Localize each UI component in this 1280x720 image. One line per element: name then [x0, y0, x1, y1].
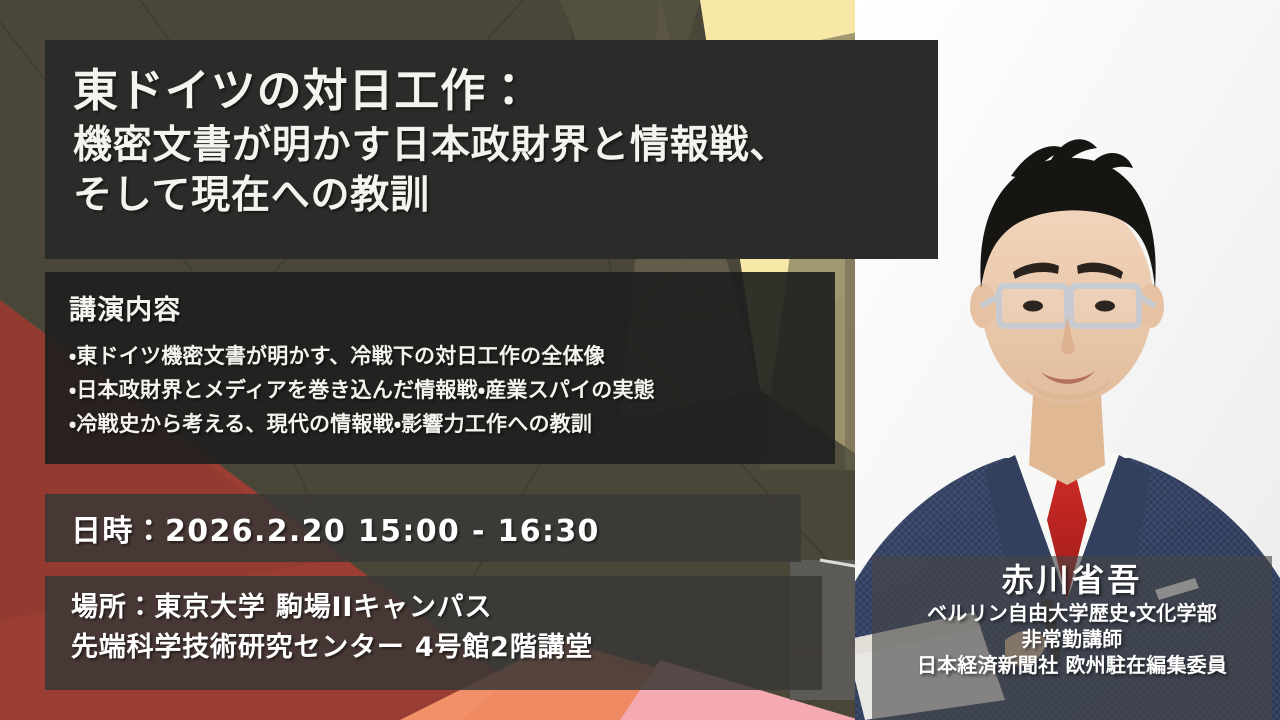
content-heading: 講演内容: [69, 288, 835, 327]
content-bullet-3: ・冷戦史から考える、現代の情報戦・影響力工作への教訓: [69, 407, 835, 441]
venue-line-1: 場所：東京大学 駒場IIキャンパス: [71, 588, 822, 628]
date-text: 日時：2026.2.20 15:00 - 16:30: [71, 506, 600, 550]
title-panel: 東ドイツの対日工作： 機密文書が明かす日本政財界と情報戦、 そして現在への教訓: [45, 40, 938, 259]
content-panel: 講演内容 ・東ドイツ機密文書が明かす、冷戦下の対日工作の全体像 ・日本政財界とメ…: [45, 272, 835, 464]
content-bullet-1: ・東ドイツ機密文書が明かす、冷戦下の対日工作の全体像: [69, 339, 835, 373]
content-bullet-2: ・日本政財界とメディアを巻き込んだ情報戦・産業スパイの実態: [69, 373, 835, 407]
title-line-1: 東ドイツの対日工作：: [73, 62, 938, 121]
title-line-2: 機密文書が明かす日本政財界と情報戦、: [73, 121, 938, 172]
speaker-affiliation-2: 非常勤講師: [1022, 626, 1123, 652]
venue-line-2: 先端科学技術研究センター 4号館2階講堂: [71, 628, 822, 668]
speaker-caption-panel: 赤川省吾 ベルリン自由大学歴史・文化学部 非常勤講師 日本経済新聞社 欧州駐在編…: [872, 556, 1272, 720]
date-panel: 日時：2026.2.20 15:00 - 16:30: [45, 494, 801, 562]
speaker-affiliation-1: ベルリン自由大学歴史・文化学部: [927, 600, 1217, 626]
poster-canvas: 東ドイツの対日工作： 機密文書が明かす日本政財界と情報戦、 そして現在への教訓 …: [0, 0, 1280, 720]
speaker-name: 赤川省吾: [1002, 562, 1143, 600]
speaker-affiliation-3: 日本経済新聞社 欧州駐在編集委員: [917, 652, 1227, 678]
title-line-3: そして現在への教訓: [73, 171, 938, 222]
venue-panel: 場所：東京大学 駒場IIキャンパス 先端科学技術研究センター 4号館2階講堂: [45, 576, 822, 690]
